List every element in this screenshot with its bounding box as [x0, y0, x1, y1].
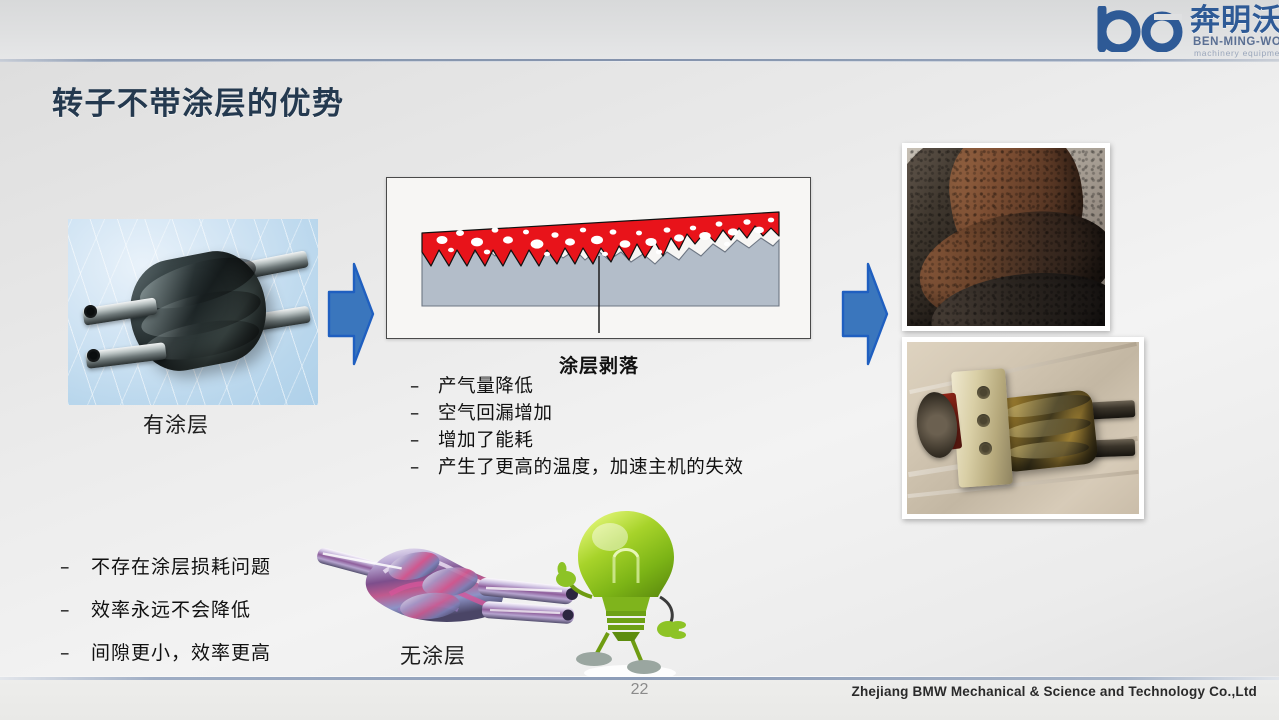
- photo-content: [907, 342, 1139, 514]
- list-item-label: 增加了能耗: [438, 430, 534, 451]
- housing-bore: [977, 386, 990, 399]
- list-item: –增加了能耗: [410, 427, 744, 454]
- list-item-label: 效率永远不会降低: [91, 599, 251, 621]
- logo-english-name: BEN-MING-WO: [1193, 36, 1279, 48]
- list-item-label: 不存在涂层损耗问题: [91, 556, 271, 578]
- coating-peel-diagram: [386, 177, 811, 339]
- shaft-bore: [84, 305, 97, 318]
- list-item: –产气量降低: [410, 373, 744, 400]
- list-item: –空气回漏增加: [410, 400, 744, 427]
- coating-problem-list: –产气量降低 –空气回漏增加 –增加了能耗 –产生了更高的温度，加速主机的失效: [410, 373, 744, 481]
- header-divider: [0, 59, 1279, 62]
- uncoated-rotor-illustration: [310, 520, 590, 650]
- list-item: –产生了更高的温度，加速主机的失效: [410, 454, 744, 481]
- bullet-dash: –: [410, 373, 438, 400]
- shaft-bore: [87, 349, 100, 362]
- bullet-dash: –: [60, 632, 91, 675]
- uncoated-rotor-caption: 无涂层: [400, 640, 466, 670]
- bullet-dash: –: [60, 589, 91, 632]
- bullet-dash: –: [60, 546, 91, 589]
- footer-company-name: Zhejiang BMW Mechanical & Science and Te…: [852, 684, 1258, 699]
- bullet-dash: –: [410, 400, 438, 427]
- list-item: –不存在涂层损耗问题: [60, 546, 271, 589]
- housing-bore: [977, 414, 990, 427]
- photo-content: [907, 148, 1105, 326]
- list-item-label: 产生了更高的温度，加速主机的失效: [438, 457, 744, 478]
- page-title: 转子不带涂层的优势: [52, 78, 345, 123]
- slide-canvas: 奔明沃 BEN-MING-WO machinery equipment 转子不带…: [0, 0, 1279, 720]
- worn-rotor-photo: [902, 143, 1110, 331]
- disassembled-compressor-photo: [902, 337, 1144, 519]
- right-arrow-icon: [841, 258, 889, 370]
- corrosion-texture: [907, 148, 1105, 326]
- lightbulb-mascot-icon: [556, 505, 696, 683]
- bo-monogram-icon: [1096, 6, 1188, 52]
- company-logo: 奔明沃 BEN-MING-WO machinery equipment: [1094, 4, 1269, 60]
- coated-rotor-caption: 有涂层: [143, 409, 209, 439]
- list-item: –效率永远不会降低: [60, 589, 271, 632]
- bullet-dash: –: [410, 427, 438, 454]
- header-band: [0, 0, 1279, 60]
- list-item-label: 产气量降低: [438, 376, 534, 397]
- logo-tagline: machinery equipment: [1194, 48, 1279, 58]
- bullet-dash: –: [410, 454, 438, 481]
- coating-peel-svg: [387, 178, 810, 338]
- uncoated-advantage-list: –不存在涂层损耗问题 –效率永远不会降低 –间隙更小，效率更高: [60, 546, 271, 675]
- housing-bore: [979, 442, 992, 455]
- list-item-label: 空气回漏增加: [438, 403, 553, 424]
- right-arrow-icon: [327, 258, 375, 370]
- logo-chinese-name: 奔明沃: [1190, 5, 1279, 37]
- list-item: –间隙更小，效率更高: [60, 632, 271, 675]
- coated-rotor-image: [68, 219, 318, 405]
- list-item-label: 间隙更小，效率更高: [91, 642, 271, 664]
